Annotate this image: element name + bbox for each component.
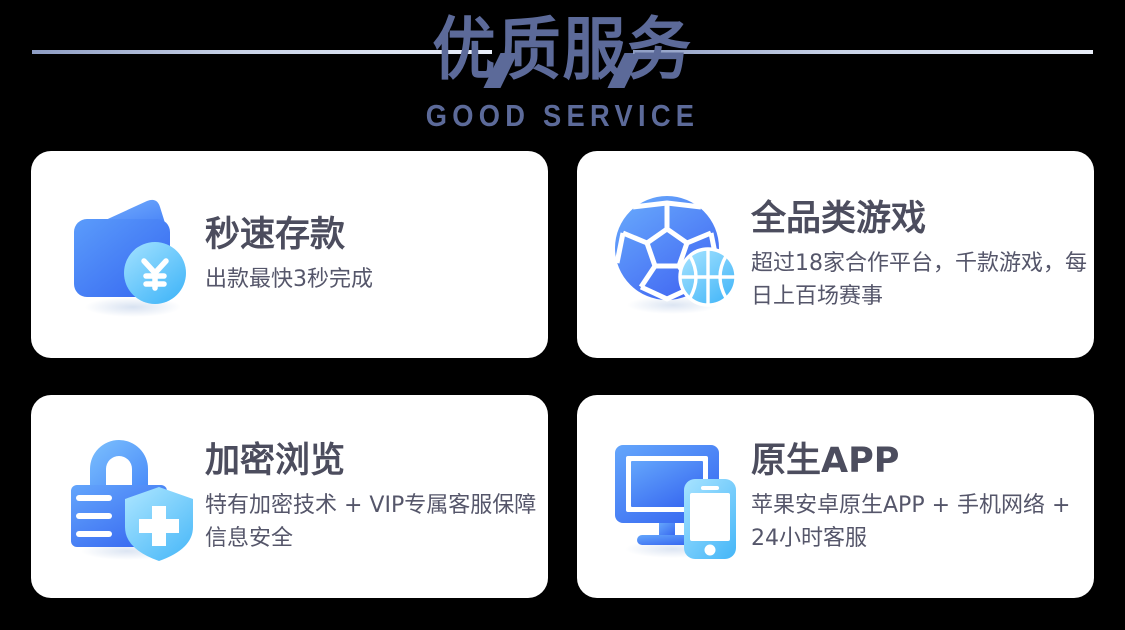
- service-card-grid: 秒速存款 出款最快3秒完成: [31, 151, 1094, 598]
- page-subtitle: GOOD SERVICE: [68, 97, 1058, 135]
- card-title: 加密浏览: [205, 439, 541, 483]
- card-text-block: 加密浏览 特有加密技术 + VIP专属客服保障信息安全: [201, 439, 541, 555]
- service-card-games[interactable]: 全品类游戏 超过18家合作平台，千款游戏，每日上百场赛事: [577, 151, 1094, 358]
- card-title: 全品类游戏: [751, 197, 1087, 241]
- card-title: 原生APP: [751, 439, 1087, 483]
- card-description: 超过18家合作平台，千款游戏，每日上百场赛事: [751, 247, 1087, 313]
- card-description: 特有加密技术 + VIP专属客服保障信息安全: [205, 489, 541, 555]
- service-card-native-app[interactable]: 原生APP 苹果安卓原生APP + 手机网络 + 24小时客服: [577, 395, 1094, 598]
- card-description: 苹果安卓原生APP + 手机网络 + 24小时客服: [751, 489, 1087, 555]
- service-card-encryption[interactable]: 加密浏览 特有加密技术 + VIP专属客服保障信息安全: [31, 395, 548, 598]
- card-text-block: 全品类游戏 超过18家合作平台，千款游戏，每日上百场赛事: [747, 197, 1087, 313]
- lock-shield-icon: [61, 427, 201, 567]
- page-title: 优质服务: [39, 8, 1085, 94]
- card-description: 出款最快3秒完成: [205, 263, 373, 296]
- page-header: 优质服务 GOOD SERVICE: [0, 0, 1125, 150]
- soccer-basketball-icon: [607, 185, 747, 325]
- card-text-block: 秒速存款 出款最快3秒完成: [201, 213, 373, 296]
- monitor-phone-icon: [607, 427, 747, 567]
- card-title: 秒速存款: [205, 213, 373, 257]
- wallet-yen-icon: [61, 185, 201, 325]
- card-text-block: 原生APP 苹果安卓原生APP + 手机网络 + 24小时客服: [747, 439, 1087, 555]
- service-card-deposit[interactable]: 秒速存款 出款最快3秒完成: [31, 151, 548, 358]
